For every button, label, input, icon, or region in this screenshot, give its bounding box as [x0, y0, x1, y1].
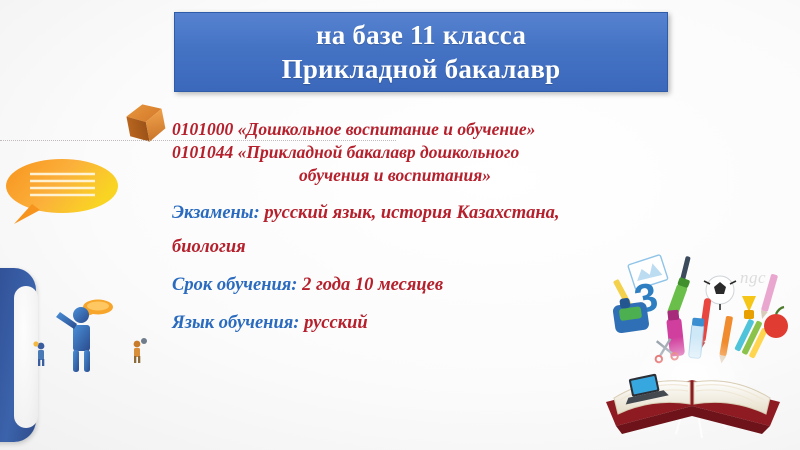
study-term-label: Срок обучения: — [172, 275, 302, 295]
exams-value-continued: биология — [172, 237, 246, 257]
small-person-figure-left-icon — [32, 338, 50, 366]
person-figure-icon — [52, 305, 106, 373]
banner-line-1: на базе 11 класса — [316, 18, 526, 52]
title-banner: на базе 11 класса Прикладной бакалавр — [174, 12, 668, 92]
exams-row-continued: биология — [172, 235, 642, 259]
exams-label: Экзамены: — [172, 203, 264, 223]
exams-row: Экзамены: русский язык, история Казахста… — [172, 201, 642, 225]
study-term-value: 2 года 10 месяцев — [302, 275, 443, 295]
specialty-line-2: 0101044 «Прикладной бакалавр дошкольного — [172, 141, 642, 164]
study-term-row: Срок обучения: 2 года 10 месяцев — [172, 273, 642, 297]
open-book-with-supplies-icon: 3 — [584, 248, 800, 450]
specialty-text-block: 0101000 «Дошкольное воспитание и обучени… — [172, 118, 642, 335]
orange-cube-icon — [120, 97, 172, 149]
watermark-text: ngc — [740, 268, 766, 288]
specialty-line-1: 0101000 «Дошкольное воспитание и обучени… — [172, 118, 642, 141]
dotted-underline — [0, 140, 396, 141]
presentation-slide: на базе 11 класса Прикладной бакалавр 01 — [0, 0, 800, 450]
language-label: Язык обучения: — [172, 313, 304, 333]
language-row: Язык обучения: русский — [172, 311, 642, 335]
small-person-figure-right-icon — [128, 335, 148, 363]
exams-value: русский язык, история Казахстана, — [264, 203, 559, 223]
banner-line-2: Прикладной бакалавр — [282, 52, 561, 86]
language-value: русский — [304, 313, 368, 333]
specialty-line-3: обучения и воспитания» — [172, 164, 642, 187]
speech-bubble-icon — [2, 152, 120, 234]
